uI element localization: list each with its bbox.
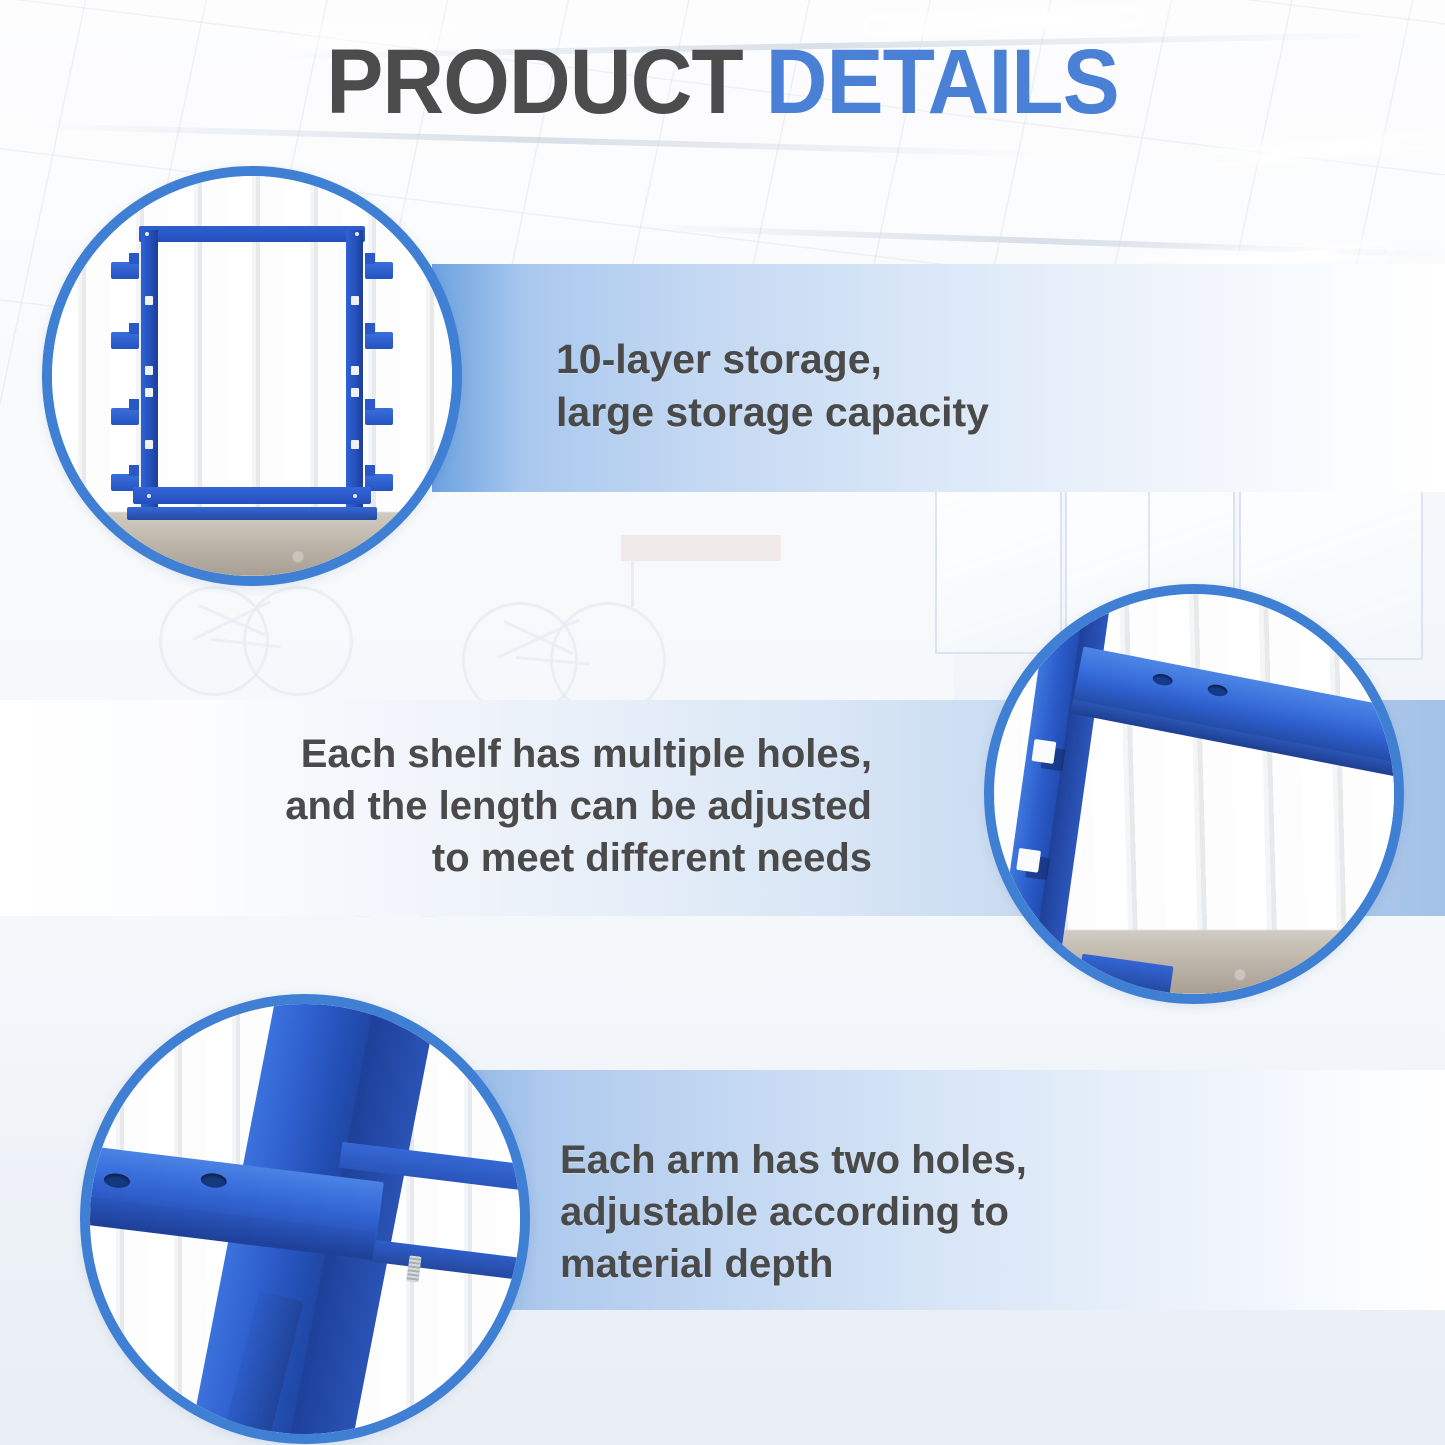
arm-holes-photo — [90, 1004, 520, 1434]
rack-full-photo — [52, 176, 452, 576]
ceiling-light — [867, 13, 1142, 32]
feature-caption-2: Each shelf has multiple holes, and the l… — [200, 728, 872, 884]
arm-hole — [103, 1172, 131, 1189]
rack-slot — [145, 388, 153, 397]
post-slots-photo — [994, 594, 1394, 994]
rack-bolt — [353, 494, 357, 498]
post-slot — [1032, 739, 1057, 764]
rack-arm — [365, 408, 393, 425]
rack-arm — [111, 332, 139, 349]
post-slot — [1016, 848, 1041, 873]
feature-caption-1: 10-layer storage, large storage capacity — [556, 333, 989, 440]
rack-bottom-beam — [133, 487, 371, 504]
rack-bolt — [145, 232, 149, 236]
rack-arm — [365, 262, 393, 279]
ghost-wall-rack — [621, 535, 781, 561]
rack-arm — [111, 408, 139, 425]
arm-hole — [1152, 672, 1174, 687]
rack-bolt — [147, 494, 151, 498]
rack-slot — [145, 440, 153, 449]
rack-slot — [351, 296, 359, 305]
page-title-accent: DETAILS — [766, 31, 1119, 133]
ceiling-beam — [636, 224, 1445, 258]
arm-hole — [1207, 683, 1229, 698]
feature-caption-3: Each arm has two holes, adjustable accor… — [560, 1134, 1027, 1290]
rack-base-beam — [127, 507, 377, 520]
rack-top-beam — [139, 226, 365, 242]
page-title-primary: PRODUCT — [326, 31, 743, 133]
rack-arm — [111, 262, 139, 279]
rack-arm — [365, 332, 393, 349]
ghost-bicycle — [462, 578, 662, 714]
feature-image-3 — [80, 994, 530, 1444]
cantilever-rack — [127, 226, 377, 526]
rack-slot — [351, 388, 359, 397]
rack-slot — [351, 440, 359, 449]
arm-hole — [200, 1172, 228, 1189]
rack-slot — [145, 366, 153, 375]
rack-slot — [351, 366, 359, 375]
rack-bolt — [355, 232, 359, 236]
ceiling-light — [1214, 135, 1431, 163]
product-details-infographic: PRODUCT DETAILS 10-layer storage, large … — [0, 0, 1445, 1445]
page-title: PRODUCT DETAILS — [51, 36, 1395, 128]
feature-image-2 — [984, 584, 1404, 1004]
feature-image-1 — [42, 166, 462, 586]
rack-slot — [145, 296, 153, 305]
